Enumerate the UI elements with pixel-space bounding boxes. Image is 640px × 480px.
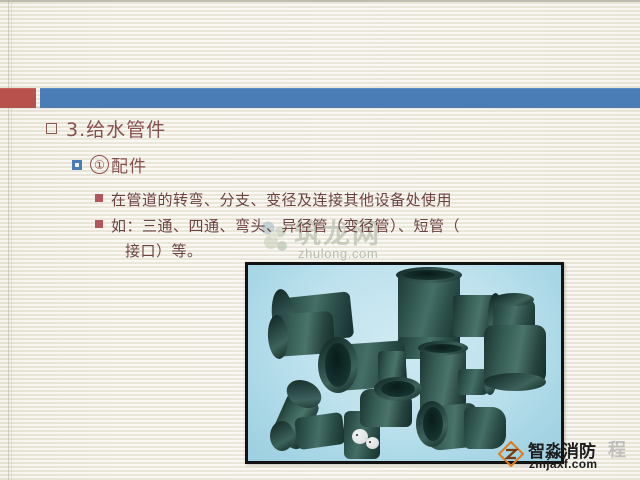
- site-watermark-en: zmjaxf.com: [529, 457, 597, 471]
- circled-number-marker: ①: [90, 155, 109, 174]
- hollow-square-bullet-icon: [46, 123, 57, 134]
- outline-level1-row: 3.给水管件: [46, 115, 166, 142]
- outline-level2-text: 配件: [111, 152, 147, 177]
- outline-level3-row-2: 如：三通、四通、弯头、异径管（变径管）、短管（ 接口）等。: [95, 214, 460, 264]
- site-watermark-ghost: 程: [608, 436, 626, 462]
- outline-level1-text: 3.给水管件: [66, 115, 166, 142]
- site-watermark: 程 智淼消防 zmjaxf.com: [498, 436, 640, 476]
- red-square-bullet-icon: [95, 220, 103, 228]
- outline-level3-text-2-line1: 如：三通、四通、弯头、异径管（变径管）、短管（: [111, 217, 460, 235]
- outline-level3-text-2-line2: 接口）等。: [125, 239, 460, 264]
- outline-level3-row-1: 在管道的转弯、分支、变径及连接其他设备处使用: [95, 188, 452, 213]
- slide-canvas: 筑龙网 zhulong.com 3.给水管件 ① 配件 在管道的转弯、分支、变径…: [0, 0, 640, 480]
- diamond-logo-icon: [498, 441, 524, 467]
- slide-content: 3.给水管件 ① 配件 在管道的转弯、分支、变径及连接其他设备处使用 如：三通、…: [0, 0, 640, 480]
- outline-level3-text-2-wrap: 如：三通、四通、弯头、异径管（变径管）、短管（ 接口）等。: [111, 214, 460, 264]
- outline-level2-row: ① 配件: [72, 152, 147, 177]
- red-square-bullet-icon: [95, 194, 103, 202]
- outline-level3-text-1: 在管道的转弯、分支、变径及连接其他设备处使用: [111, 188, 452, 213]
- blue-square-bullet-icon: [72, 160, 82, 170]
